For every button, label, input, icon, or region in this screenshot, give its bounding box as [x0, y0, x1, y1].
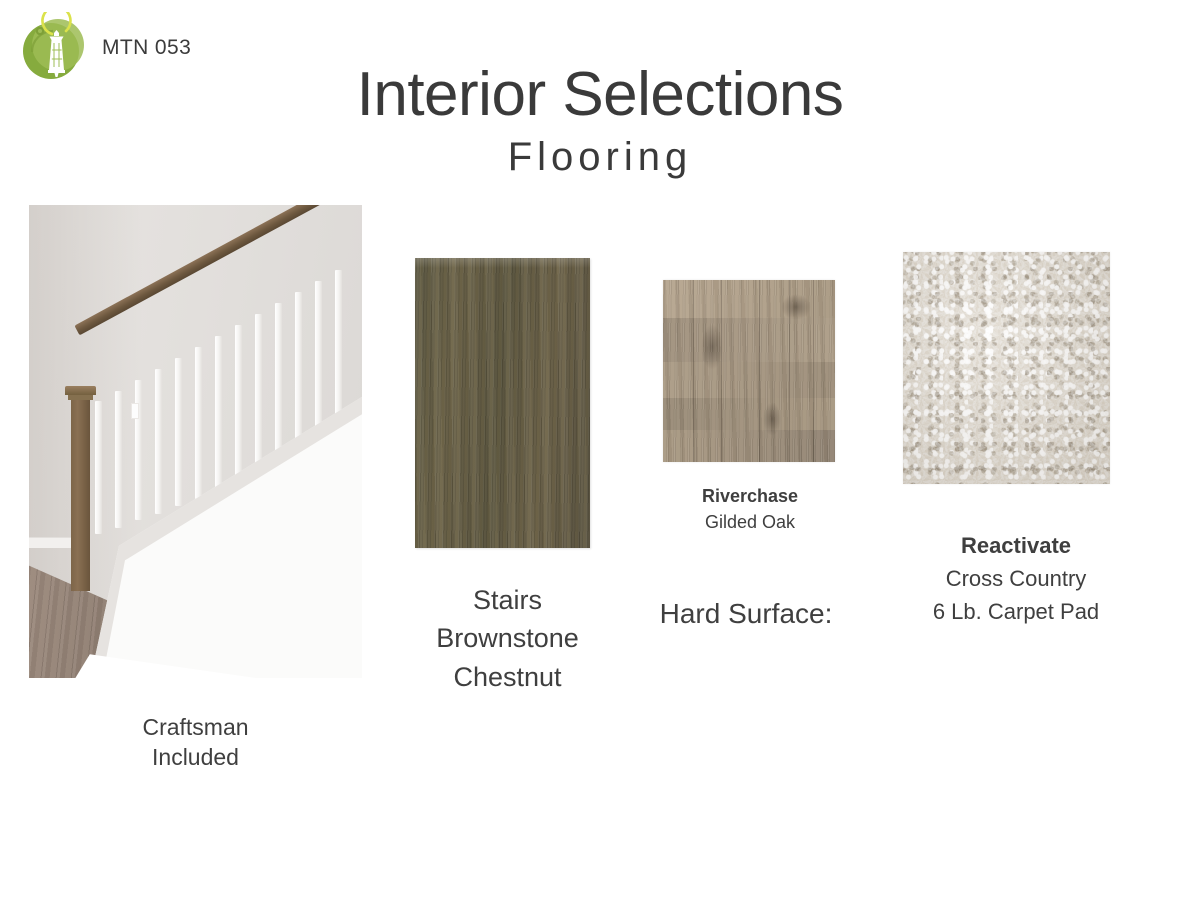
hard-surface-swatch [663, 280, 835, 462]
staircase-photo [29, 205, 362, 678]
stair-stain-swatch [415, 258, 590, 548]
photo-light-switch [131, 403, 139, 419]
stair-stain-caption: Stairs Brownstone Chestnut [400, 581, 615, 696]
carpet-shading [903, 252, 1110, 484]
stair-stain-caption-line-3: Chestnut [400, 658, 615, 696]
plan-code-label: MTN 053 [102, 36, 191, 62]
hard-surface-label: Hard Surface: [628, 596, 864, 632]
hard-surface-name-caption: Riverchase Gilded Oak [650, 483, 850, 535]
staircase-caption-line-2: Included [29, 743, 362, 773]
hard-surface-label-text: Hard Surface: [628, 596, 864, 632]
photo-newel-post [71, 391, 90, 591]
carpet-product-color: Cross Country [898, 562, 1134, 595]
carpet-pad-spec: 6 Lb. Carpet Pad [898, 595, 1134, 628]
photo-newel-neck [68, 395, 93, 400]
carpet-product-name: Reactivate [898, 529, 1134, 562]
carpet-caption: Reactivate Cross Country 6 Lb. Carpet Pa… [898, 529, 1134, 628]
hard-surface-product-name: Riverchase [650, 483, 850, 509]
page-subtitle: Flooring [0, 135, 1200, 179]
stair-stain-caption-line-1: Stairs [400, 581, 615, 619]
stair-stain-caption-line-2: Brownstone [400, 619, 615, 657]
staircase-caption-line-1: Craftsman [29, 713, 362, 743]
staircase-caption: Craftsman Included [29, 713, 362, 773]
page-title: Interior Selections [0, 62, 1200, 127]
hard-surface-product-color: Gilded Oak [650, 509, 850, 535]
photo-newel-cap [65, 386, 96, 395]
hard-surface-grain [663, 280, 835, 462]
carpet-swatch [903, 252, 1110, 484]
